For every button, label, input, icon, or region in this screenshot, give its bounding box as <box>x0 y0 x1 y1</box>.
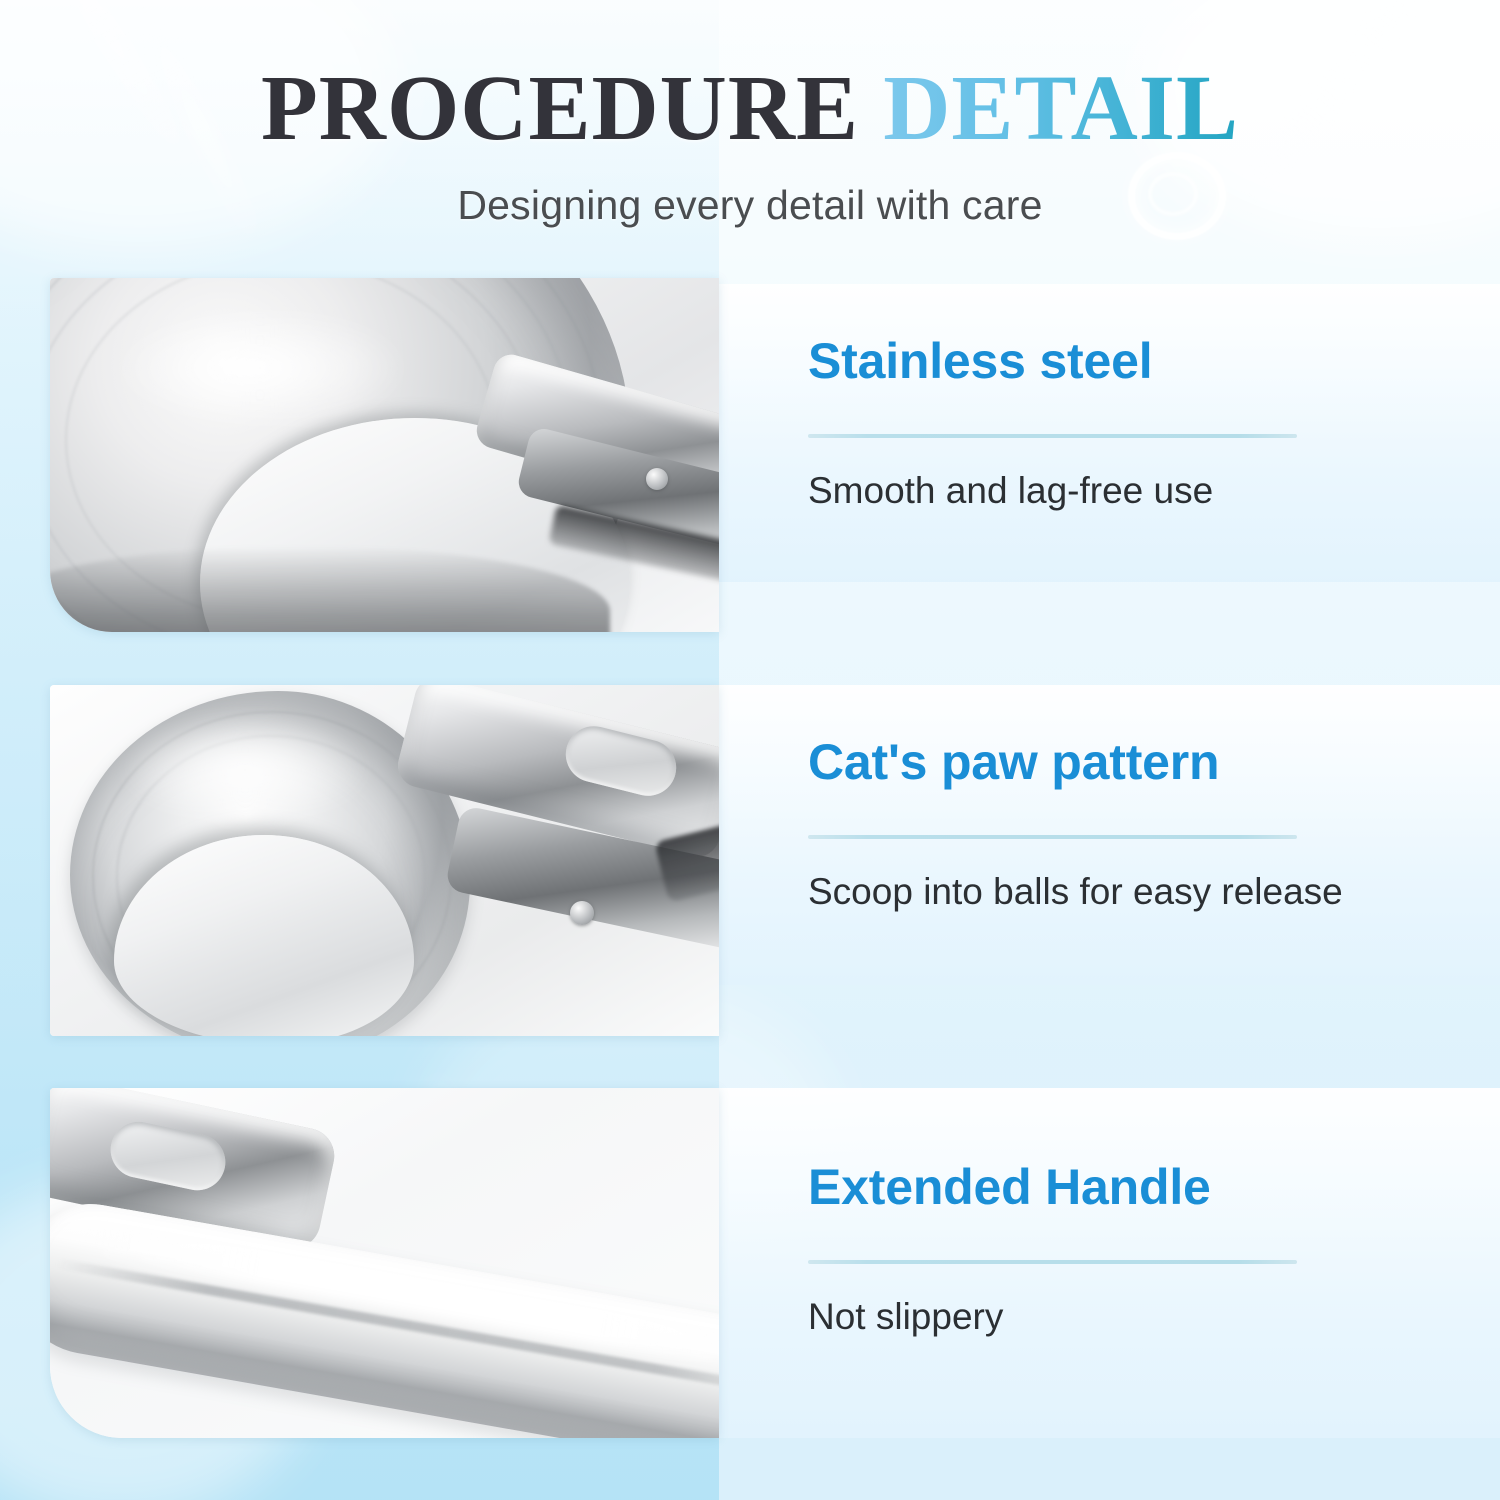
feature-divider-2 <box>808 835 1297 839</box>
feature-divider-3 <box>808 1260 1297 1264</box>
page-title-part-one: PROCEDURE <box>261 57 859 160</box>
feature-heading-1: Stainless steel <box>808 332 1152 390</box>
scoop-highlight-1 <box>110 308 410 428</box>
feature-image-1 <box>50 278 719 632</box>
feature-text-panel-1: Stainless steel Smooth and lag-free use <box>719 284 1500 582</box>
feature-text-panel-3: Extended Handle Not slippery <box>719 1088 1500 1438</box>
feature-text-panel-2: Cat's paw pattern Scoop into balls for e… <box>719 685 1500 985</box>
infographic-page: PROCEDURE DETAIL Designing every detail … <box>0 0 1500 1500</box>
feature-divider-1 <box>808 434 1297 438</box>
feature-heading-2: Cat's paw pattern <box>808 733 1219 791</box>
page-subtitle: Designing every detail with care <box>0 182 1500 229</box>
page-title-part-two: DETAIL <box>883 57 1239 160</box>
scoop-rivet-1 <box>646 468 668 490</box>
scoop-highlight-2 <box>120 715 370 825</box>
feature-heading-3: Extended Handle <box>808 1158 1211 1216</box>
feature-caption-3: Not slippery <box>808 1296 1003 1338</box>
feature-image-3 <box>50 1088 719 1438</box>
feature-caption-2: Scoop into balls for easy release <box>808 871 1343 913</box>
scoop-rivet-2 <box>570 901 594 925</box>
feature-image-2 <box>50 685 719 1036</box>
page-title: PROCEDURE DETAIL <box>0 62 1500 155</box>
feature-caption-1: Smooth and lag-free use <box>808 470 1213 512</box>
